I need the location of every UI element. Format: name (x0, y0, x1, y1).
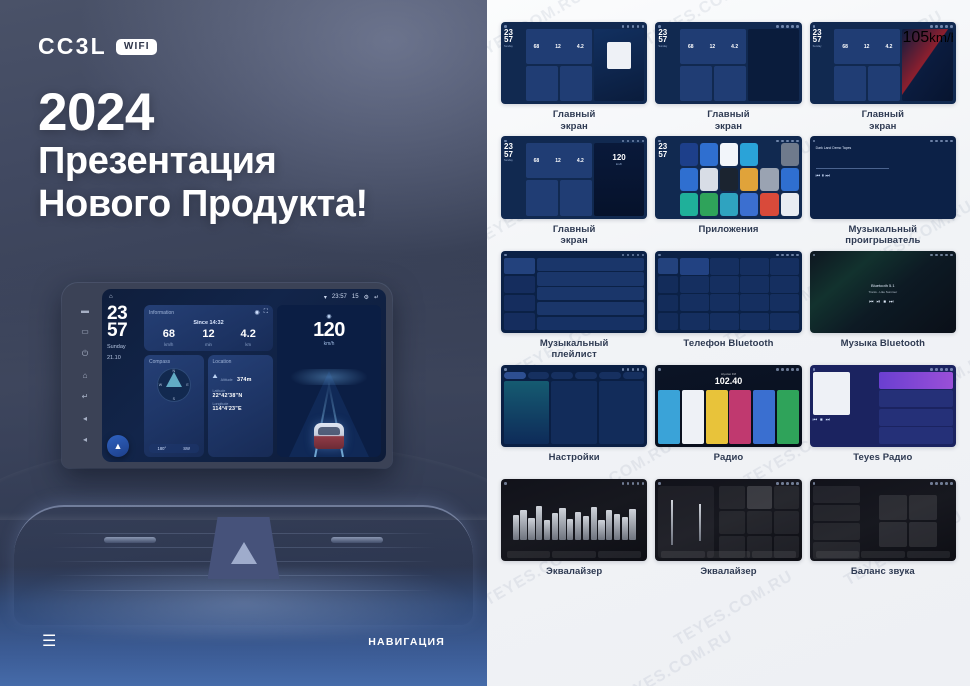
stat-speed-unit: km/h (149, 342, 189, 347)
thumb-phone-nav[interactable] (658, 258, 678, 330)
stat-distance-unit: km (228, 342, 268, 347)
thumb-time-dot (627, 482, 630, 485)
thumb-eq-bar[interactable] (583, 516, 589, 540)
thumb-home-layout: 2357Sunday68124.2105km/h (813, 29, 953, 101)
thumb-home-dot (813, 482, 816, 485)
thumb-app-icon[interactable] (720, 143, 738, 166)
thumb-wifi-dot (622, 254, 625, 257)
thumb-vol-dot (632, 254, 635, 257)
thumb-vol-dot (632, 25, 635, 28)
thumb-track-list[interactable] (537, 258, 644, 330)
thumb-vol-dot (632, 140, 635, 143)
thumb-back-dot (642, 482, 645, 485)
grid-cell[interactable]: Hiyuzan FM102.40Радио (655, 365, 801, 475)
screenshot-grid: 2357Sunday68124.2Главныйэкран2357Sunday6… (501, 22, 956, 589)
grid-cell[interactable]: 2357Приложения (655, 136, 801, 246)
compass-south: S (173, 397, 175, 401)
thumb-eq-bar[interactable] (591, 507, 597, 540)
thumbnail-caption: Главныйэкран (553, 224, 595, 247)
thumb-balance-list[interactable] (813, 486, 861, 558)
volume-up-icon[interactable]: ◂ (83, 436, 87, 444)
thumb-player-layout: Dark Land Demo Tapes⏮ ⏸ ⏭ (813, 143, 953, 215)
thumb-app-icon[interactable] (740, 193, 758, 216)
vent-slot-left (104, 537, 156, 543)
screenshot-thumbnail[interactable] (501, 365, 647, 447)
thumb-media-widget (594, 29, 645, 101)
grid-cell[interactable]: Музыкальныйплейлист (501, 251, 647, 361)
thumbnail-caption: Эквалайзер (546, 566, 602, 589)
thumb-gear-dot (945, 368, 948, 371)
thumb-gear-dot (945, 25, 948, 28)
grid-cell[interactable]: Эквалайзер (501, 479, 647, 589)
thumb-track-title: Dark Land Demo Tapes (816, 146, 889, 150)
compass-north: N (172, 369, 175, 373)
thumb-visualizer (894, 143, 953, 215)
thumb-back-dot (950, 482, 953, 485)
page-title: 2024 Презентация Нового Продукта! (38, 86, 368, 225)
thumb-bt-controls[interactable]: ⏮⏯⏹⏭ (869, 299, 898, 305)
thumb-vol-dot (632, 482, 635, 485)
thumb-balance-layout (813, 486, 953, 558)
thumb-app-icon[interactable] (700, 193, 718, 216)
back-icon[interactable]: ↵ (82, 393, 89, 401)
thumb-gear-dot (945, 482, 948, 485)
hero-panel: CC3L WIFI 2024 Презентация Нового Продук… (0, 0, 487, 686)
thumb-wifi-dot (930, 482, 933, 485)
thumb-eq-bar[interactable] (544, 520, 550, 540)
clock-date: 21.10 (107, 355, 140, 362)
compass-heading: 180° (158, 446, 167, 451)
thumb-wifi-dot (776, 25, 779, 28)
compass-label: SW (183, 446, 190, 451)
thumb-status-bar (504, 481, 644, 486)
thumb-back-dot (950, 254, 953, 257)
screenshot-thumbnail[interactable]: ⏮⏹⏭ (810, 365, 956, 447)
thumbnail-caption: Музыкальныйпроигрыватель (845, 224, 920, 247)
thumb-bt-track: Tranis - Like Summer (869, 290, 898, 294)
grid-cell[interactable]: Dark Land Demo Tapes⏮ ⏸ ⏭Музыкальныйпрои… (810, 136, 956, 246)
thumb-app-dock (748, 29, 799, 101)
thumb-album-art (607, 42, 631, 69)
thumb-app-icon[interactable] (680, 143, 698, 166)
thumbnail-caption: Баланс звука (851, 566, 915, 589)
hero-footer: ☰ НАВИГАЦИЯ (0, 634, 487, 650)
thumb-back-dot (642, 368, 645, 371)
driving-view-widget[interactable]: ◉ 120 km/h (277, 305, 381, 457)
thumb-eq-bar[interactable] (552, 513, 558, 540)
screenshot-thumbnail[interactable]: 2357Sunday68124.2120km/h (501, 136, 647, 218)
thumb-gear-dot (637, 25, 640, 28)
stat-speed-value: 68 (149, 329, 189, 340)
trip-stats: 68 km/h 12 min 4.2 km (149, 329, 268, 347)
compass-card[interactable]: Compass N S W E 180° SW (144, 355, 204, 457)
grid-cell[interactable]: 2357Sunday68124.2Главныйэкран (501, 22, 647, 132)
thumb-eq-bar[interactable] (536, 506, 542, 540)
thumb-wifi-dot (622, 482, 625, 485)
screenshot-thumbnail[interactable]: 2357Sunday68124.2 (501, 22, 647, 104)
thumb-app-icon[interactable] (720, 193, 738, 216)
thumb-back-dot (950, 368, 953, 371)
grid-cell[interactable]: 2357Sunday68124.2Главныйэкран (655, 22, 801, 132)
stat-distance: 4.2 km (228, 329, 268, 347)
back-arrow-icon[interactable]: ↵ (374, 294, 379, 301)
thumb-eq-bar[interactable] (598, 520, 604, 541)
thumb-eq-bar[interactable] (575, 512, 581, 540)
layers-icon: ☰ (42, 634, 56, 650)
thumbnail-caption: Приложения (698, 224, 758, 247)
thumb-cards: 68124.2 (526, 143, 592, 215)
stat-time: 12 min (189, 329, 229, 347)
volume-level: 15 (352, 294, 359, 300)
head-unit-device: ▬ ▭ ⏻ ⌂ ↵ ◂ ◂ ⌂ ▾ 23:57 15 ⚙ ↵ 23 (62, 283, 392, 468)
thumb-eq-bar[interactable] (513, 515, 519, 540)
thumb-eq-bar[interactable] (559, 508, 565, 540)
grid-cell[interactable]: ⏮⏹⏭Teyes Радио (810, 365, 956, 475)
thumb-wifi-dot (776, 482, 779, 485)
status-bar: ⌂ ▾ 23:57 15 ⚙ ↵ (102, 289, 386, 305)
thumb-time-dot (781, 140, 784, 143)
screenshot-thumbnail[interactable] (655, 479, 801, 561)
stat-time-unit: min (189, 342, 229, 347)
thumb-home-layout: 2357Sunday68124.2 (658, 29, 798, 101)
thumb-app-icon[interactable] (680, 168, 698, 191)
thumb-app-icon[interactable] (781, 193, 799, 216)
speed-value: 120 (277, 320, 381, 340)
thumb-info-card: 68124.2 (680, 29, 746, 64)
home-indicator-icon[interactable]: ⌂ (109, 294, 113, 300)
grid-cell[interactable]: 2357Sunday68124.2120km/hГлавныйэкран (501, 136, 647, 246)
thumb-progress-bar[interactable] (816, 168, 889, 169)
navigation-fab-button[interactable]: ▲ (107, 435, 129, 457)
side-button-1[interactable]: ▭ (81, 328, 89, 336)
thumb-eq-bar[interactable] (606, 510, 612, 540)
hero-title-line2: Нового Продукта! (38, 183, 368, 226)
speed-unit: km/h (277, 341, 381, 347)
stat-speed: 68 km/h (149, 329, 189, 347)
thumb-time-dot (781, 25, 784, 28)
logo-model-text: CC3L (38, 33, 107, 60)
screenshot-thumbnail[interactable] (501, 251, 647, 333)
thumb-eq-bar[interactable] (528, 518, 534, 540)
thumb-gear-dot (791, 25, 794, 28)
thumb-gear-dot (637, 254, 640, 257)
screenshot-thumbnail[interactable] (501, 479, 647, 561)
thumb-back-dot (796, 368, 799, 371)
thumb-home-dot (813, 254, 816, 257)
thumb-home-dot (504, 254, 507, 257)
since-label: Since 14:32 (149, 320, 268, 326)
thumb-wifi-dot (622, 25, 625, 28)
hero-year: 2024 (38, 86, 368, 140)
thumbnail-caption: Музыка Bluetooth (841, 338, 926, 361)
location-title: Location (213, 359, 232, 365)
thumb-app-icon[interactable] (740, 143, 758, 166)
thumb-eq-bar[interactable] (567, 519, 573, 540)
thumb-back-dot (950, 25, 953, 28)
thumb-info-card: 68124.2 (834, 29, 900, 64)
screenshot-thumbnail[interactable]: 2357 (655, 136, 801, 218)
thumb-gear-dot (791, 482, 794, 485)
thumb-vol-dot (786, 254, 789, 257)
thumb-eq-simple-layout (658, 486, 798, 558)
thumb-radio-frequency: 102.40 (658, 376, 798, 386)
thumb-cards: 68124.2 (680, 29, 746, 101)
lead-vehicle-graphic (314, 423, 344, 449)
thumb-wifi-dot (930, 254, 933, 257)
clock-day: Sunday (107, 344, 140, 351)
thumb-btmusic-layout: Bluetooth 5.1Tranis - Like Summer⏮⏯⏹⏭ (813, 258, 953, 330)
thumb-eq-bar[interactable] (622, 517, 628, 540)
thumb-time-dot (935, 254, 938, 257)
screenshot-thumbnail[interactable]: Dark Land Demo Tapes⏮ ⏸ ⏭ (810, 136, 956, 218)
screenshot-thumbnail[interactable]: Bluetooth 5.1Tranis - Like Summer⏮⏯⏹⏭ (810, 251, 956, 333)
thumb-vol-dot (786, 25, 789, 28)
information-title: Information (149, 310, 174, 316)
thumb-wifi-dot (930, 25, 933, 28)
thumb-vol-dot (940, 25, 943, 28)
thumb-back-dot (642, 25, 645, 28)
grid-cell[interactable]: Настройки (501, 365, 647, 475)
thumb-speed-value: 105km/h (902, 29, 953, 47)
thumb-app-icon[interactable] (760, 168, 778, 191)
stat-time-value: 12 (189, 329, 229, 340)
thumbnail-caption: Teyes Радио (853, 452, 912, 475)
thumb-settings-tabs[interactable] (504, 372, 644, 379)
thumb-time-dot (935, 25, 938, 28)
thumb-app-icon[interactable] (760, 143, 778, 166)
thumb-teyes-list[interactable] (879, 372, 953, 444)
thumb-back-dot (796, 140, 799, 143)
thumb-info-card: 68124.2 (526, 29, 592, 64)
thumb-location-card (714, 66, 746, 101)
gear-icon[interactable]: ⚙ (364, 294, 369, 301)
thumb-time-dot (781, 482, 784, 485)
thumb-vol-dot (940, 140, 943, 143)
thumb-compass-card (834, 66, 866, 101)
thumbnail-caption: Эквалайзер (700, 566, 756, 589)
clock-minutes: 57 (107, 322, 140, 339)
thumbnail-caption: Телефон Bluetooth (683, 338, 773, 361)
thumb-eq-bar[interactable] (614, 514, 620, 540)
thumb-wifi-dot (776, 254, 779, 257)
thumb-gear-dot (637, 482, 640, 485)
thumb-location-card (560, 66, 592, 101)
thumb-wifi-dot (622, 140, 625, 143)
thumb-playlist-nav[interactable] (504, 258, 535, 330)
thumb-time-dot (935, 482, 938, 485)
thumb-time-dot (627, 254, 630, 257)
screenshot-thumbnail[interactable] (810, 479, 956, 561)
product-logo: CC3L WIFI (38, 33, 157, 60)
thumb-player-controls[interactable]: ⏮ ⏸ ⏭ (816, 173, 889, 179)
thumb-app-icon[interactable] (680, 193, 698, 216)
stat-distance-value: 4.2 (228, 329, 268, 340)
grid-cell[interactable]: Баланс звука (810, 479, 956, 589)
watermark: TEYES.COM.RU (611, 628, 736, 686)
grid-cell[interactable]: 2357Sunday68124.2105km/hГлавныйэкран (810, 22, 956, 132)
thumb-vol-dot (940, 482, 943, 485)
thumb-keypad[interactable] (680, 258, 799, 330)
thumb-back-dot (642, 140, 645, 143)
hazard-triangle-icon (231, 542, 257, 564)
mountain-icon: ⛰ (213, 374, 218, 381)
thumb-vol-dot (940, 254, 943, 257)
navigation-label: НАВИГАЦИЯ (368, 636, 445, 648)
speed-readout: ◉ 120 km/h (277, 313, 381, 347)
thumb-settings-layout (504, 372, 644, 444)
head-unit-side-buttons[interactable]: ▬ ▭ ⏻ ⌂ ↵ ◂ ◂ (68, 293, 102, 458)
thumb-eq-footer (816, 551, 951, 558)
compass-dial: N S W E (157, 368, 191, 402)
screenshot-thumbnail[interactable] (655, 251, 801, 333)
thumb-eq-sliders[interactable] (658, 486, 714, 558)
thumb-radio-band: Hiyuzan FM (658, 372, 798, 376)
thumb-clock: 2357Sunday (658, 29, 678, 101)
thumb-time-dot (627, 368, 630, 371)
status-time: 23:57 (332, 294, 347, 300)
thumb-equalizer-bars[interactable] (513, 497, 636, 540)
thumb-radio-presets[interactable] (658, 390, 798, 444)
thumb-vol-dot (786, 482, 789, 485)
thumb-time-dot (935, 368, 938, 371)
thumb-wifi-dot (622, 368, 625, 371)
thumb-dialer-layout (658, 258, 798, 330)
thumb-back-dot (796, 25, 799, 28)
thumb-time-dot (627, 140, 630, 143)
thumb-teyes-now-playing: ⏮⏹⏭ (813, 372, 878, 444)
thumb-compass-card (526, 66, 558, 101)
thumb-teyes-controls[interactable]: ⏮⏹⏭ (813, 417, 878, 423)
home-icon[interactable]: ⌂ (83, 372, 88, 380)
thumb-gear-dot (791, 254, 794, 257)
thumb-eq-footer (507, 551, 642, 558)
thumb-bt-title: Bluetooth 5.1 (869, 283, 898, 288)
altitude-value: 374m (237, 377, 252, 383)
refresh-icon[interactable]: ◉ (255, 309, 260, 316)
thumb-wifi-dot (776, 140, 779, 143)
thumb-speed-value: 120km/h (594, 153, 645, 166)
thumb-back-dot (642, 254, 645, 257)
thumb-vol-dot (940, 368, 943, 371)
thumb-home-dot (658, 482, 661, 485)
thumb-wifi-dot (930, 368, 933, 371)
compass-title: Compass (149, 359, 170, 365)
thumbnail-caption: Главныйэкран (862, 109, 904, 132)
thumb-apps-layout: 2357 (658, 143, 798, 215)
thumb-clock: 2357Sunday (504, 143, 524, 215)
clock-column: 23 57 Sunday 21.10 ▲ (107, 305, 140, 457)
thumb-compass-card (526, 180, 558, 215)
grid-cell[interactable]: Эквалайзер (655, 479, 801, 589)
longitude-value: 114°4'23"E (213, 406, 268, 412)
thumb-driving-view: 105km/h (902, 29, 953, 101)
latitude-value: 22°42'38"N (213, 393, 268, 399)
hazard-light-button[interactable] (208, 517, 280, 579)
thumb-app-icon[interactable] (720, 168, 738, 191)
thumb-clock: 2357 (658, 143, 678, 215)
thumb-location-card (868, 66, 900, 101)
thumb-teyes-layout: ⏮⏹⏭ (813, 372, 953, 444)
thumb-time-dot (935, 140, 938, 143)
thumb-playlist-layout (504, 258, 644, 330)
expand-icon[interactable]: ⛶ (264, 309, 268, 316)
lead-vehicle-window (318, 427, 340, 435)
thumb-balance-pad[interactable] (862, 486, 953, 558)
thumbnail-caption: Главныйэкран (553, 109, 595, 132)
thumb-app-icon[interactable] (700, 168, 718, 191)
information-card[interactable]: Information ◉ ⛶ Since 14:32 68 km/h (144, 305, 273, 351)
thumb-driving-view: 120km/h (594, 143, 645, 215)
thumb-clock: 2357Sunday (504, 29, 524, 101)
thumb-gear-dot (791, 140, 794, 143)
thumb-app-icon[interactable] (760, 193, 778, 216)
grid-cell[interactable]: Телефон Bluetooth (655, 251, 801, 361)
thumb-app-icon[interactable] (781, 143, 799, 166)
side-button-0[interactable]: ▬ (81, 307, 89, 315)
thumb-app-icon[interactable] (740, 168, 758, 191)
thumbnail-caption: Радио (714, 452, 744, 475)
screenshot-thumbnail[interactable]: Hiyuzan FM102.40 (655, 365, 801, 447)
thumb-home-layout: 2357Sunday68124.2 (504, 29, 644, 101)
compass-east: E (186, 383, 188, 387)
thumbnail-caption: Настройки (549, 452, 600, 475)
thumb-location-card (560, 180, 592, 215)
compass-needle-icon (166, 372, 182, 387)
thumb-settings-cards[interactable] (504, 381, 644, 444)
vent-slot-right (331, 537, 383, 543)
thumb-home-dot (813, 368, 816, 371)
thumb-home-layout: 2357Sunday68124.2120km/h (504, 143, 644, 215)
power-icon[interactable]: ⏻ (82, 350, 88, 358)
thumb-back-dot (796, 254, 799, 257)
thumb-eq-presets[interactable] (719, 486, 798, 558)
thumb-eq-bar[interactable] (629, 509, 635, 540)
thumb-radio-layout: Hiyuzan FM102.40 (658, 372, 798, 444)
thumb-time-dot (781, 368, 784, 371)
thumb-gear-dot (637, 140, 640, 143)
thumb-gear-dot (791, 368, 794, 371)
thumb-cards: 68124.2 (834, 29, 900, 101)
thumb-vol-dot (786, 368, 789, 371)
thumb-eq-bar[interactable] (520, 510, 526, 540)
thumbnail-caption: Главныйэкран (707, 109, 749, 132)
screenshot-thumbnail[interactable]: 2357Sunday68124.2 (655, 22, 801, 104)
thumb-time-dot (781, 254, 784, 257)
thumb-app-grid (680, 143, 799, 215)
thumb-vol-dot (786, 140, 789, 143)
thumb-clock: 2357Sunday (813, 29, 833, 101)
screenshot-grid-panel: TEYES.COM.RUTEYES.COM.RUTEYES.COM.RUTEYE… (487, 0, 970, 686)
thumb-back-dot (796, 482, 799, 485)
logo-wifi-badge: WIFI (116, 39, 157, 55)
head-unit-screen[interactable]: ⌂ ▾ 23:57 15 ⚙ ↵ 23 57 Sunday 21.10 ▲ (102, 289, 386, 462)
thumb-cards: 68124.2 (526, 29, 592, 101)
screenshot-thumbnail[interactable]: 2357Sunday68124.2105km/h (810, 22, 956, 104)
location-card[interactable]: Location ⛰ Altitude 374m Latitude 22° (208, 355, 273, 457)
thumb-app-grid (750, 31, 797, 33)
thumb-app-icon[interactable] (700, 143, 718, 166)
thumb-app-icon[interactable] (781, 168, 799, 191)
grid-cell[interactable]: Bluetooth 5.1Tranis - Like Summer⏮⏯⏹⏭Муз… (810, 251, 956, 361)
thumb-gear-dot (637, 368, 640, 371)
thumb-wifi-dot (776, 368, 779, 371)
thumb-wifi-dot (930, 140, 933, 143)
volume-down-icon[interactable]: ◂ (83, 415, 87, 423)
thumbnail-caption: Музыкальныйплейлист (540, 338, 609, 361)
thumb-time-dot (627, 25, 630, 28)
thumb-compass-card (680, 66, 712, 101)
thumb-vol-dot (632, 368, 635, 371)
